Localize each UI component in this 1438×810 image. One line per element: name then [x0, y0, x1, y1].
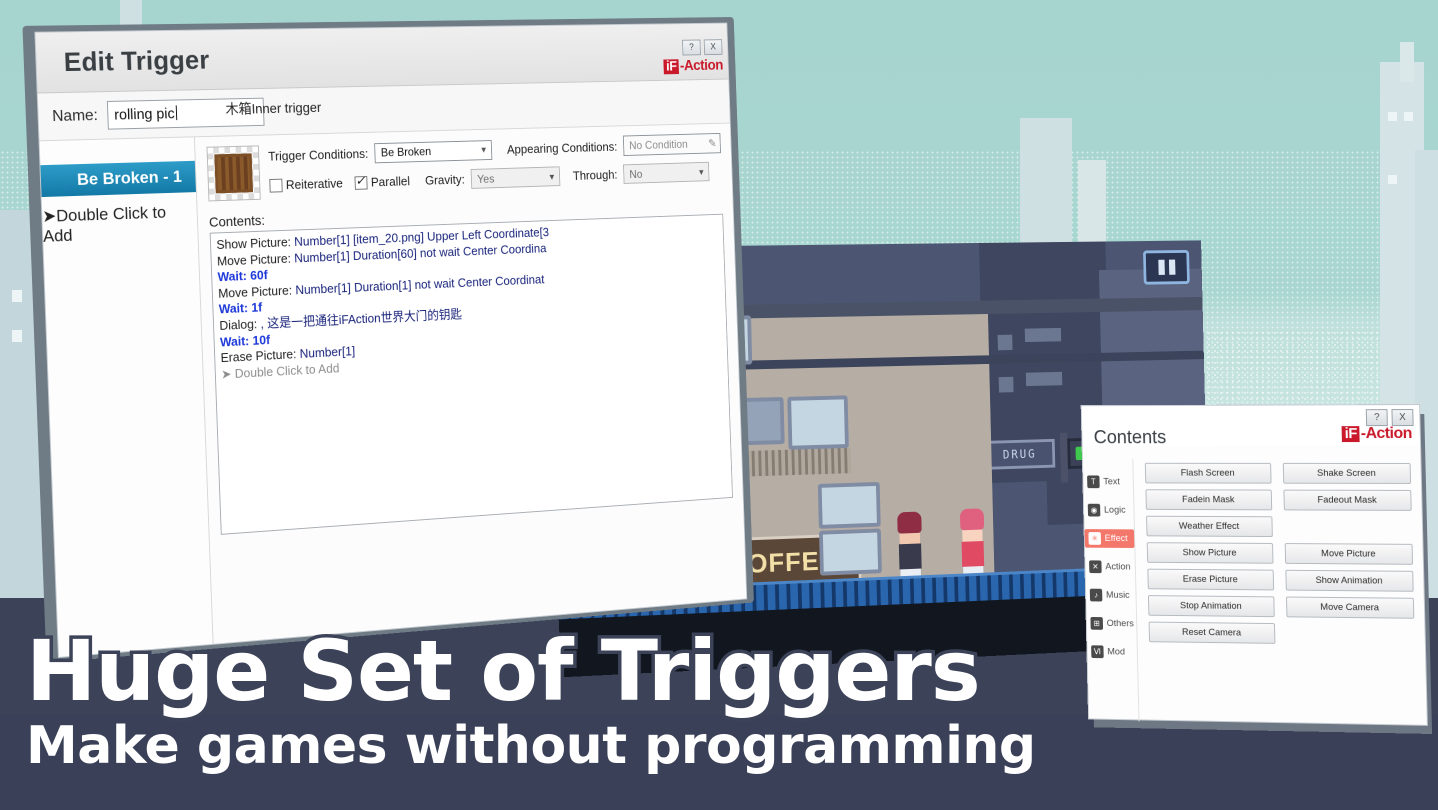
contents-button-show-animation[interactable]: Show Animation	[1285, 570, 1414, 592]
appearing-conditions-field[interactable]: No Condition✎	[623, 133, 721, 156]
gravity-value: Yes	[477, 172, 495, 186]
screenshot-stage: DRUG COFFEE	[0, 0, 1438, 810]
skyline-window	[12, 290, 22, 302]
bulb-icon: ◉	[1088, 504, 1101, 517]
sparkle-icon: ✳	[1088, 532, 1101, 545]
npc-character	[960, 508, 985, 576]
game-building-window	[999, 377, 1014, 393]
game-building-window	[998, 335, 1013, 351]
trigger-detail-panel: ? X iF-Action 木箱Inner trigger Trigger Co…	[195, 124, 747, 645]
contents-category-label: Others	[1107, 618, 1134, 629]
storefront-window	[819, 528, 882, 575]
contents-category-sidebar: TText◉Logic✳Effect✕Action♪Music⊞OthersⅥM…	[1083, 459, 1140, 722]
trigger-flags-row: Reiterative Parallel Gravity: Yes▼ Throu…	[269, 161, 722, 195]
npc-body	[962, 541, 985, 567]
contents-button-erase-picture[interactable]: Erase Picture	[1147, 569, 1273, 591]
player-hair	[897, 512, 922, 534]
contents-row-command: Dialog:	[219, 316, 261, 333]
name-input-value: rolling pic	[114, 105, 175, 123]
grid-icon: ⊞	[1090, 617, 1103, 630]
window-controls: ? X iF-Action	[663, 39, 723, 75]
contents-row-command: Wait:	[217, 268, 250, 284]
trigger-list-item-selected[interactable]: Be Broken - 1	[40, 161, 195, 197]
contents-button-fadein-mask[interactable]: Fadein Mask	[1145, 489, 1271, 510]
subline-text: Make games without programming	[26, 716, 1036, 776]
contents-row-args: 1f	[251, 300, 262, 315]
contents-category-label: Effect	[1105, 533, 1128, 544]
contents-row-command: Move Picture:	[217, 250, 295, 268]
through-value: No	[629, 167, 642, 180]
contents-category-logic[interactable]: ◉Logic	[1084, 501, 1134, 520]
speaker-icon: ♪	[1090, 589, 1103, 602]
mod-icon: Ⅵ	[1091, 645, 1104, 658]
text-caret	[175, 105, 176, 120]
contents-button-weather-effect[interactable]: Weather Effect	[1146, 516, 1272, 537]
contents-button-grid: Flash ScreenShake ScreenFadein MaskFadeo…	[1133, 459, 1427, 727]
skyline-window	[1388, 112, 1397, 121]
reiterative-label: Reiterative	[286, 176, 343, 192]
player-body	[899, 543, 922, 569]
conditions-grid: Trigger Conditions: Be Broken▼ Appearing…	[268, 133, 722, 204]
contents-button-move-picture[interactable]: Move Picture	[1284, 543, 1413, 565]
edit-trigger-body: Be Broken - 1 ➤Double Click to Add ? X i…	[40, 124, 747, 658]
chevron-down-icon: ▼	[548, 172, 556, 182]
chevron-down-icon: ▼	[480, 145, 488, 155]
contents-row-args: Number[1]	[299, 344, 355, 361]
contents-row-args: 10f	[252, 332, 270, 347]
storefront-window	[787, 395, 849, 449]
through-label: Through:	[573, 167, 618, 182]
game-building-window	[1025, 328, 1061, 342]
npc-hair	[960, 508, 984, 530]
contents-category-music[interactable]: ♪Music	[1086, 586, 1136, 605]
skyline-window	[1388, 175, 1397, 184]
street-sign: DRUG	[984, 439, 1056, 470]
contents-titlebar: ? X iF-Action Contents	[1082, 405, 1420, 445]
text-icon: T	[1087, 475, 1100, 488]
player-character	[897, 512, 923, 580]
inner-trigger-label: 木箱Inner trigger	[225, 97, 321, 119]
name-label: Name:	[52, 107, 98, 126]
skyline-window	[1404, 112, 1413, 121]
headline-text: Huge Set of Triggers	[26, 622, 980, 720]
contents-row-command: Move Picture:	[218, 283, 296, 301]
parallel-checkbox[interactable]: Parallel	[354, 174, 410, 190]
contents-button-move-camera[interactable]: Move Camera	[1285, 597, 1414, 619]
ifaction-logo: iF-Action	[1342, 425, 1412, 443]
appearing-conditions-value: No Condition	[629, 138, 688, 153]
contents-button-flash-screen[interactable]: Flash Screen	[1145, 463, 1271, 484]
page-title: Edit Trigger	[36, 45, 210, 78]
contents-category-label: Logic	[1104, 505, 1126, 516]
pause-button[interactable]	[1143, 250, 1190, 285]
npc-face	[962, 529, 982, 541]
gravity-label: Gravity:	[425, 172, 465, 187]
player-face	[900, 533, 921, 544]
contents-list[interactable]: Show Picture: Number[1] [item_20.png] Up…	[209, 214, 733, 535]
contents-row-command: Wait:	[220, 333, 253, 349]
contents-button-reset-camera[interactable]: Reset Camera	[1149, 622, 1275, 644]
close-button[interactable]: X	[704, 39, 723, 55]
contents-button-stop-animation[interactable]: Stop Animation	[1148, 595, 1274, 617]
contents-category-label: Mod	[1107, 646, 1125, 657]
tools-icon: ✕	[1089, 560, 1102, 573]
checkbox-box-checked	[354, 176, 367, 190]
trigger-list-panel: Be Broken - 1 ➤Double Click to Add	[40, 137, 214, 658]
ifaction-logo-text: -Action	[680, 58, 724, 75]
contents-row-args: 60f	[250, 268, 268, 283]
checkbox-box	[269, 178, 282, 192]
contents-row-command: Wait:	[219, 301, 252, 317]
window-button-group: ? X	[1366, 409, 1414, 426]
contents-category-text[interactable]: TText	[1083, 473, 1133, 492]
ifaction-logo-mark: iF	[663, 59, 679, 74]
game-building-window	[1026, 372, 1062, 386]
contents-category-others[interactable]: ⊞Others	[1087, 614, 1137, 633]
chevron-down-icon: ▼	[697, 167, 705, 176]
contents-body: TText◉Logic✳Effect✕Action♪Music⊞OthersⅥM…	[1083, 445, 1427, 727]
contents-row-command: Show Picture:	[216, 234, 294, 252]
trigger-list-add-hint[interactable]: ➤Double Click to Add	[42, 202, 197, 247]
trigger-config-row: Trigger Conditions: Be Broken▼ Appearing…	[206, 133, 722, 206]
reiterative-checkbox[interactable]: Reiterative	[269, 176, 343, 193]
parallel-label: Parallel	[371, 174, 411, 190]
contents-button-shake-screen[interactable]: Shake Screen	[1282, 463, 1411, 484]
edit-pencil-icon[interactable]: ✎	[708, 137, 717, 150]
trigger-conditions-row: Trigger Conditions: Be Broken▼ Appearing…	[268, 133, 721, 167]
through-select[interactable]: No▼	[623, 162, 709, 184]
contents-title: Contents	[1094, 427, 1167, 449]
contents-category-label: Action	[1105, 561, 1130, 572]
trigger-conditions-select[interactable]: Be Broken▼	[374, 140, 492, 163]
skyline-building	[1400, 42, 1414, 82]
gravity-select[interactable]: Yes▼	[471, 166, 561, 189]
ifaction-logo-text: -Action	[1361, 425, 1412, 443]
ifaction-logo: iF-Action	[663, 58, 723, 76]
edit-trigger-window: Edit Trigger Name: rolling pic Be Broken…	[14, 2, 755, 657]
contents-category-mod[interactable]: ⅥMod	[1087, 642, 1137, 661]
contents-category-label: Music	[1106, 590, 1130, 601]
appearing-conditions-label: Appearing Conditions:	[507, 139, 618, 156]
contents-category-action[interactable]: ✕Action	[1085, 557, 1135, 576]
contents-button-fadeout-mask[interactable]: Fadeout Mask	[1283, 490, 1412, 511]
ifaction-logo-mark: iF	[1342, 426, 1360, 442]
contents-button-show-picture[interactable]: Show Picture	[1147, 542, 1273, 564]
contents-category-label: Text	[1103, 476, 1120, 487]
crate-icon	[214, 153, 253, 193]
trigger-conditions-label: Trigger Conditions:	[268, 146, 369, 163]
contents-category-effect[interactable]: ✳Effect	[1085, 529, 1135, 548]
window-button-group: ? X	[682, 39, 723, 55]
help-button[interactable]: ?	[682, 40, 701, 56]
storefront-window	[818, 482, 881, 529]
contents-picker-window: ? X iF-Action Contents TText◉Logic✳Effec…	[1081, 404, 1438, 734]
help-button[interactable]: ?	[1366, 409, 1388, 426]
close-button[interactable]: X	[1391, 409, 1413, 426]
trigger-conditions-value: Be Broken	[381, 145, 432, 160]
skyline-window	[12, 330, 22, 342]
crate-thumbnail[interactable]	[206, 145, 260, 201]
